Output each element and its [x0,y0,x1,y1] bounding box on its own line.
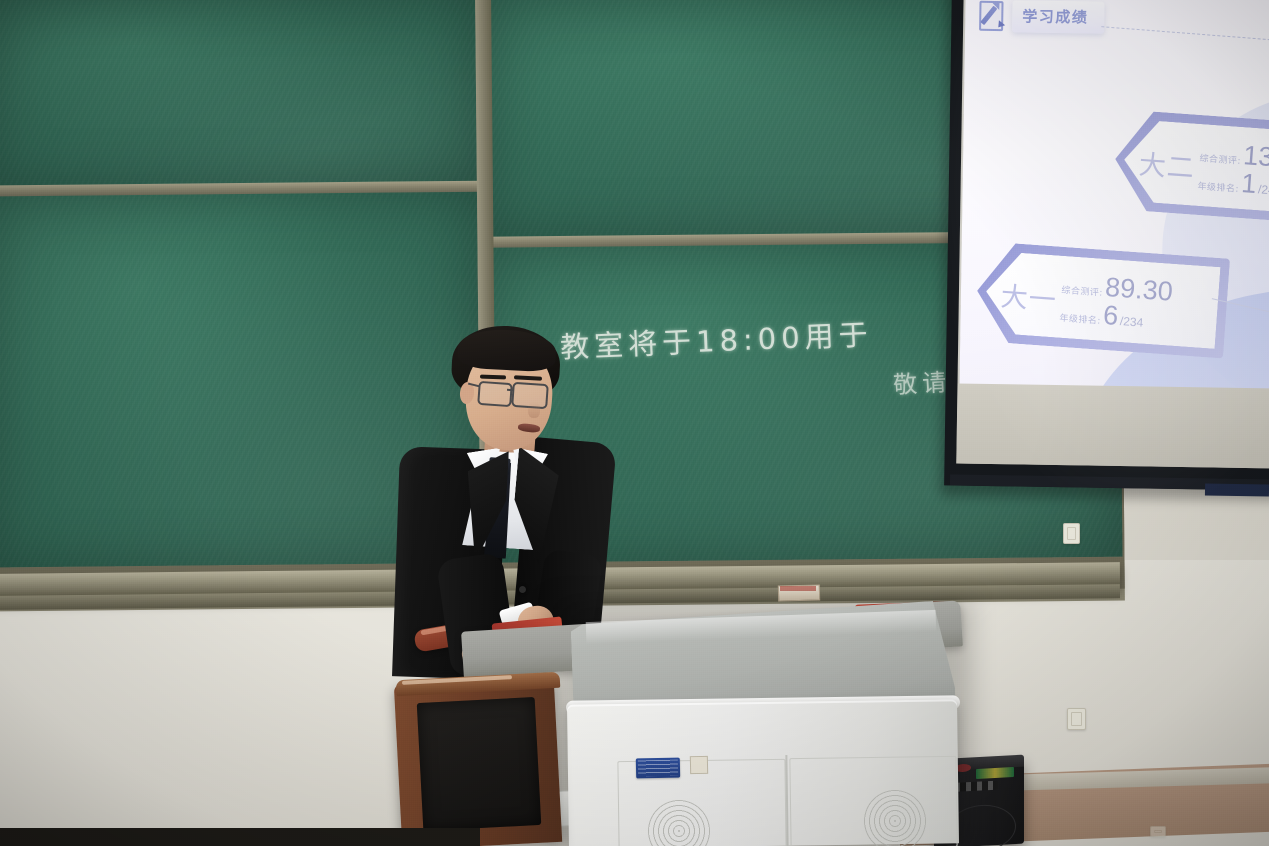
badge-year-label: 大一 [1000,274,1059,317]
eyeglasses-lens-left [477,381,513,407]
slide-header: 学习成绩 [979,0,1105,34]
slide-badge-sophomore: 大二 综合测评: 138 年级排名: 1 /24 [1112,109,1269,227]
badge-score-value: 138 [1242,142,1269,172]
badge-rank-value: 1 [1240,170,1257,198]
presenter-eyebrow-left [480,375,506,380]
slide-title-underline [1101,26,1269,41]
badge-rank-value: 6 [1102,301,1119,329]
foreground-shadow [0,828,480,846]
badge-score-label: 综合测评: [1061,282,1103,298]
light-switch [1063,523,1080,544]
amplifier-connector-panel [976,767,1014,779]
badge-rank-label: 年级排名: [1059,310,1101,326]
chalk-box-stripe [780,586,816,591]
badge-score-label: 综合测评: [1199,150,1241,166]
badge-rank-total: /24 [1258,182,1269,197]
eyeglasses-bridge [507,389,514,391]
power-outlet [1067,708,1086,730]
badge-rank-label: 年级排名: [1197,178,1239,194]
presenter-nose [528,402,540,418]
badge-rank-total: /234 [1119,314,1143,330]
lectern-speaker-grille-right [864,790,926,846]
badge-row-rank: 年级排名: 1 /24 [1197,166,1269,199]
slide-badge-freshman: 大一 综合测评: 89.30 年级排名: 6 /234 [974,241,1231,359]
slide-title: 学习成绩 [1022,5,1088,27]
blackboard-panel-top-left [0,0,477,189]
document-pencil-icon [979,1,1005,31]
presentation-slide: 学习成绩 大二 综合测评: 138 [959,0,1269,390]
power-outlet-floor [1150,826,1166,837]
chair-upholstery-pad [417,697,542,831]
projected-slide-area: 学习成绩 大二 综合测评: 138 [959,0,1269,390]
presenter-jacket-button [519,586,526,593]
badge-year-label: 大二 [1138,142,1197,185]
slide-title-plate: 学习成绩 [1012,0,1105,33]
lectern-asset-sticker [690,756,708,774]
classroom-presentation-photo: 教室将于18:00用于 敬请谅 学习成绩 [0,0,1269,846]
screen-mount-tab [1205,483,1269,496]
projection-screen: 学习成绩 大二 综合测评: 138 [956,0,1269,468]
screen-unlit-area [956,383,1269,468]
lectern-label-text [638,760,678,777]
